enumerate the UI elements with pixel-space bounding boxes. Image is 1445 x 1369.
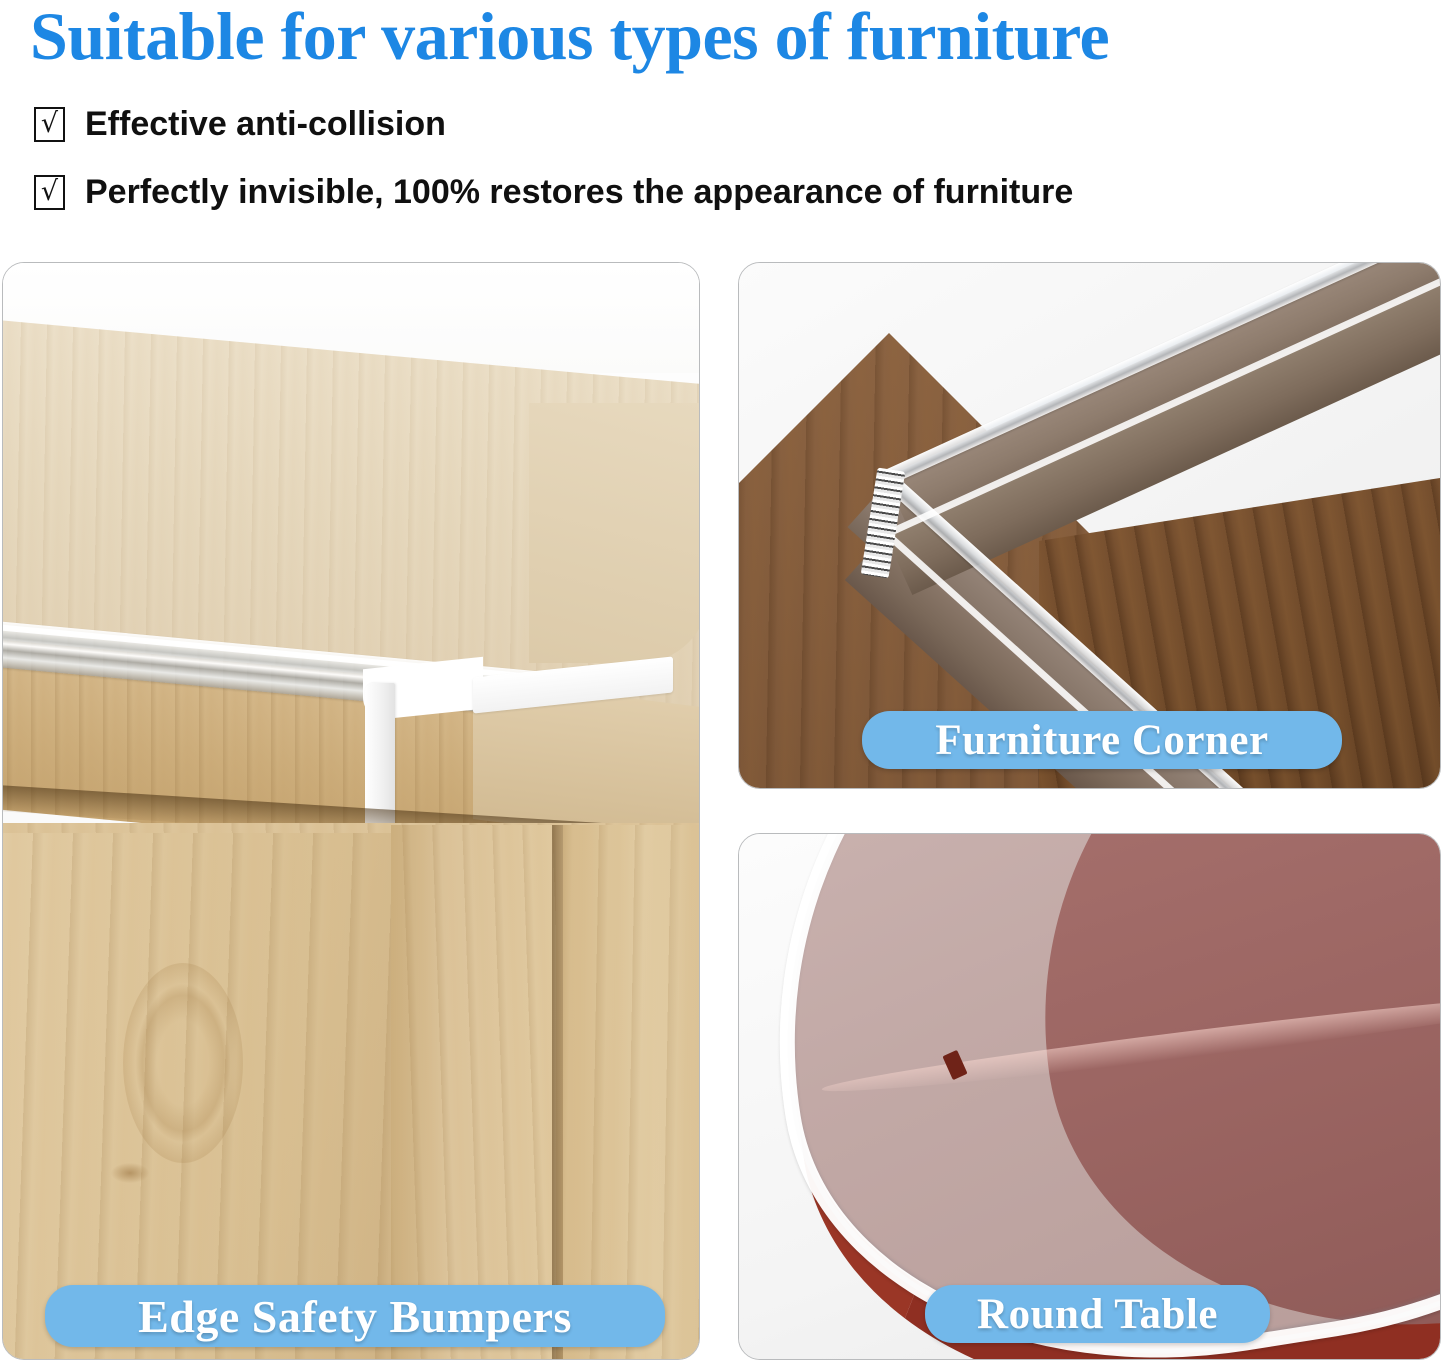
cabinet-corner-edge	[391, 825, 556, 1359]
product-photo-panel-furniture-corner	[738, 262, 1441, 789]
caption-badge-edge-safety-bumpers: Edge Safety Bumpers	[45, 1285, 665, 1347]
feature-bullet-label: Effective anti-collision	[85, 106, 446, 142]
table-top-corner	[529, 403, 699, 663]
product-photo-panel-edge-bumpers	[2, 262, 700, 1360]
photo-furniture-corner	[739, 263, 1440, 788]
checkbox-checked-icon: √	[34, 175, 65, 210]
wood-knot	[111, 1163, 149, 1183]
caption-badge-furniture-corner: Furniture Corner	[862, 711, 1342, 769]
page-title: Suitable for various types of furniture	[30, 0, 1430, 74]
wood-grain-swirl	[123, 963, 243, 1163]
feature-bullet-perfectly-invisible: √ Perfectly invisible, 100% restores the…	[34, 174, 1073, 210]
photo-round-table	[739, 834, 1440, 1359]
feature-bullet-effective-anti-collision: √ Effective anti-collision	[34, 106, 446, 142]
product-photo-panel-round-table	[738, 833, 1441, 1360]
photo-edge-safety-bumpers	[3, 263, 699, 1359]
checkbox-checked-icon: √	[34, 107, 65, 142]
check-mark-glyph: √	[41, 178, 58, 205]
header: Suitable for various types of furniture …	[0, 0, 1445, 250]
feature-bullet-label: Perfectly invisible, 100% restores the a…	[85, 174, 1073, 210]
cabinet-right-door	[563, 825, 699, 1359]
check-mark-glyph: √	[41, 110, 58, 137]
caption-badge-round-table: Round Table	[925, 1285, 1270, 1343]
